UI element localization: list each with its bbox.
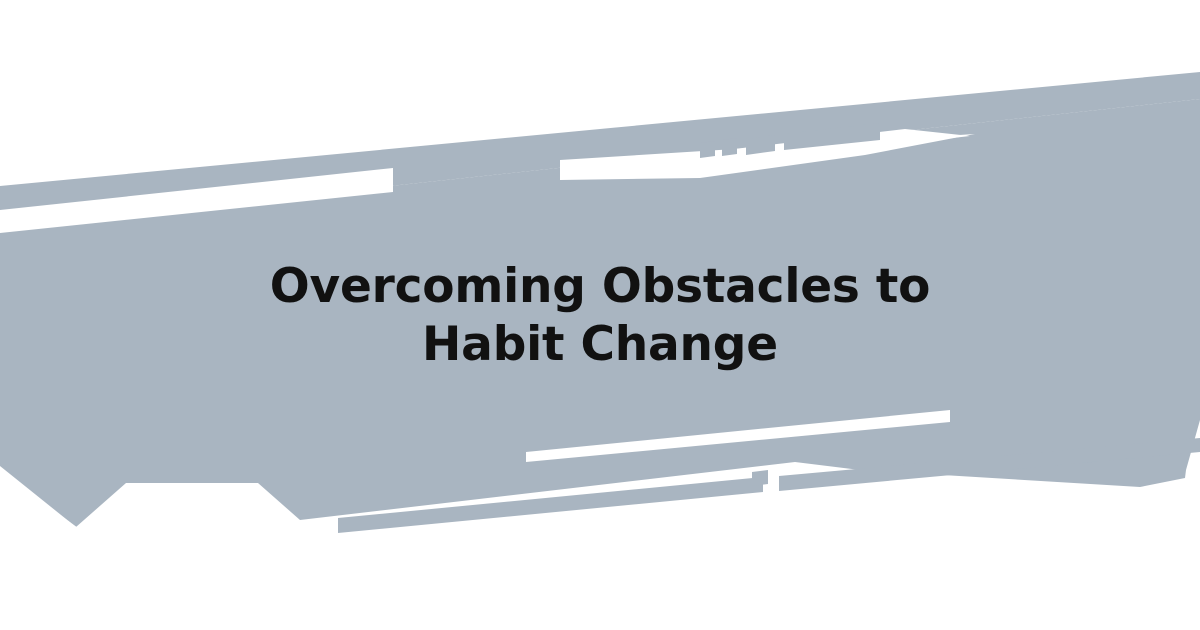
accent-tab-small [752, 470, 768, 486]
dash-mark-1-icon [700, 141, 715, 158]
notched-bottom-edge [0, 466, 1200, 630]
page-title-line-1: Overcoming Obstacles to [0, 258, 1200, 316]
share-card-canvas: Overcoming Obstacles to Habit Change [0, 0, 1200, 630]
dash-mark-2-icon [722, 138, 737, 156]
page-title: Overcoming Obstacles to Habit Change [0, 258, 1200, 374]
page-title-line-2: Habit Change [0, 316, 1200, 374]
